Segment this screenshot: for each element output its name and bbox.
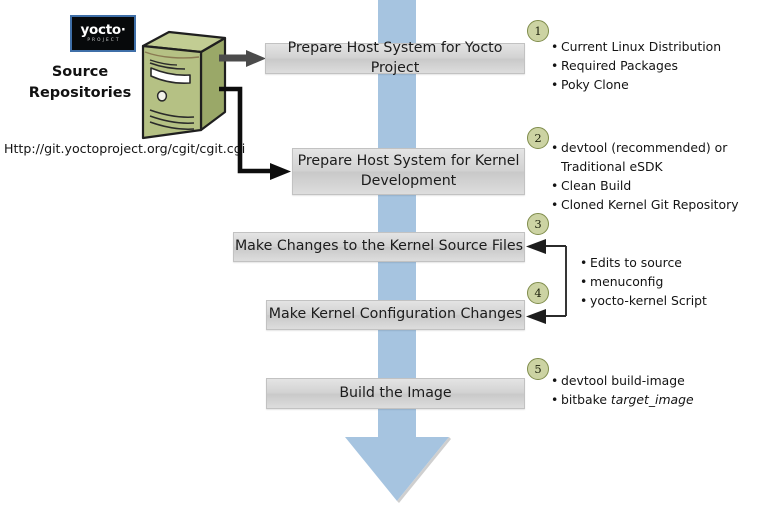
bullet-item: •Edits to source <box>580 254 765 273</box>
notes-step-5: •devtool build-image•bitbake target_imag… <box>551 372 766 410</box>
bullet-text: Cloned Kernel Git Repository <box>561 196 766 215</box>
source-label-line-1: Source <box>16 62 144 83</box>
bullet-dot-icon: • <box>551 391 561 410</box>
source-label-line-2: Repositories <box>16 83 144 104</box>
notes-step-2: •devtool (recommended) or Traditional eS… <box>551 139 766 214</box>
bullet-item: •Clean Build <box>551 177 766 196</box>
step-number-4: 4 <box>527 282 549 304</box>
logo-word-text: yocto <box>81 22 121 38</box>
logo-wordmark: yocto· <box>81 24 126 38</box>
bullet-dot-icon: • <box>551 196 561 215</box>
bullet-dot-icon: • <box>551 38 561 57</box>
bullet-item: •Current Linux Distribution <box>551 38 766 57</box>
bullet-item: •Required Packages <box>551 57 766 76</box>
bullet-text: Edits to source <box>590 254 765 273</box>
repository-url: Http://git.yoctoproject.org/cgit/cgit.cg… <box>4 141 245 156</box>
bullet-dot-icon: • <box>580 273 590 292</box>
bullet-text: Required Packages <box>561 57 766 76</box>
bullet-text: Poky Clone <box>561 76 766 95</box>
bullet-text: Clean Build <box>561 177 766 196</box>
bullet-dot-icon: • <box>551 139 561 158</box>
notes-steps-3-and-4: •Edits to source•menuconfig•yocto-kernel… <box>580 254 765 311</box>
bullet-text: bitbake target_image <box>561 391 766 410</box>
process-box-step-3[interactable]: Make Changes to the Kernel Source Files <box>233 232 525 262</box>
yocto-project-logo: yocto· PROJECT <box>70 15 136 52</box>
source-repositories-label: Source Repositories <box>16 62 144 104</box>
step-number-3: 3 <box>527 213 549 235</box>
bullet-item: •devtool build-image <box>551 372 766 391</box>
process-box-step-1[interactable]: Prepare Host System for Yocto Project <box>265 43 525 74</box>
bullet-item: •menuconfig <box>580 273 765 292</box>
bullet-text: devtool build-image <box>561 372 766 391</box>
bullet-text: menuconfig <box>590 273 765 292</box>
bullet-item: •yocto-kernel Script <box>580 292 765 311</box>
diagram-canvas: yocto· PROJECT Source Repositories Http:… <box>0 0 769 517</box>
bullet-text: devtool (recommended) or Traditional eSD… <box>561 139 766 177</box>
logo-subtitle: PROJECT <box>87 39 120 43</box>
bullet-dot-icon: • <box>551 57 561 76</box>
bullet-item: •bitbake target_image <box>551 391 766 410</box>
process-box-step-2[interactable]: Prepare Host System for Kernel Developme… <box>292 148 525 195</box>
bullet-text: yocto-kernel Script <box>590 292 765 311</box>
bullet-text-emphasis: target_image <box>611 392 694 407</box>
step-number-1: 1 <box>527 20 549 42</box>
bullet-text: Current Linux Distribution <box>561 38 766 57</box>
process-box-step-4[interactable]: Make Kernel Configuration Changes <box>266 300 525 330</box>
process-box-step-5[interactable]: Build the Image <box>266 378 525 409</box>
connector-server-to-box2 <box>219 89 291 180</box>
bullet-dot-icon: • <box>580 254 590 273</box>
notes-step-1: •Current Linux Distribution•Required Pac… <box>551 38 766 95</box>
connector-notes-bracket <box>526 239 566 324</box>
server-icon <box>133 30 229 142</box>
bullet-dot-icon: • <box>551 177 561 196</box>
bullet-dot-icon: • <box>551 76 561 95</box>
bullet-item: •Cloned Kernel Git Repository <box>551 196 766 215</box>
step-number-2: 2 <box>527 127 549 149</box>
bullet-item: •devtool (recommended) or Traditional eS… <box>551 139 766 177</box>
logo-dot: · <box>121 23 126 38</box>
bullet-item: •Poky Clone <box>551 76 766 95</box>
bullet-dot-icon: • <box>551 372 561 391</box>
bullet-dot-icon: • <box>580 292 590 311</box>
step-number-5: 5 <box>527 358 549 380</box>
